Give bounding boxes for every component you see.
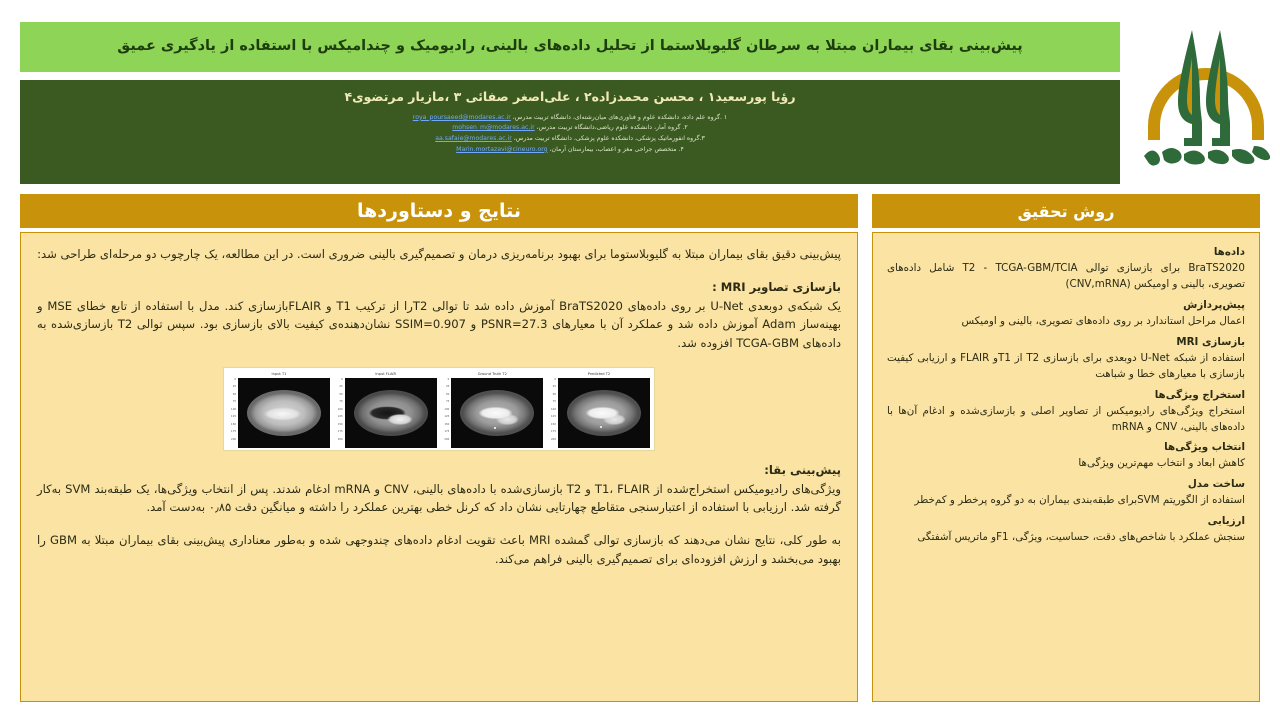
mri-image-input-flair	[345, 378, 437, 448]
mri-panel-input-flair-caption: Input FLAIR	[375, 370, 396, 378]
affiliation-1-text: ۱ .گروه علم داده، دانشکده علوم و فناوری‌…	[513, 114, 727, 121]
method-section-body-preprocessing: اعمال مراحل استاندارد بر روی داده‌های تص…	[887, 314, 1245, 330]
mri-y-axis-flair: 02550 75100125 150175200	[334, 378, 344, 446]
research-method-panel: روش تحقیق داده‌ها BraTS2020 برای بازسازی…	[872, 194, 1260, 702]
brain-slice-flair	[354, 390, 428, 436]
method-section-body-mri-reconstruction: استفاده از شبکه U-Net دوبعدی برای بازساز…	[887, 351, 1245, 383]
mri-panel-input-flair: Input FLAIR 02550 75100125 150175200	[334, 370, 438, 448]
mri-panel-input-t1: Input T1 02550 75100125 150175200	[227, 370, 331, 448]
mri-y-axis-gt: 02550 75100125 150175200	[440, 378, 450, 446]
results-panel-body: پیش‌بینی دقیق بقای بیماران مبتلا به گلیو…	[20, 232, 858, 702]
affiliation-4-email[interactable]: Marin.mortazavi@cineuro.org	[456, 146, 547, 153]
brain-slice-ground-truth	[460, 390, 534, 436]
mri-y-axis-pred: 02550 75100125 150175200	[547, 378, 557, 446]
mri-image-input-t1	[238, 378, 330, 448]
affiliation-2: ۲. گروه آمار، دانشکده علوم ریاضی،دانشگاه…	[40, 123, 1100, 134]
method-section-title-data: داده‌ها	[887, 245, 1245, 261]
poster-root: پیش‌بینی بقای بیماران مبتلا به سرطان گلی…	[0, 0, 1280, 720]
affiliation-2-text: ۲. گروه آمار، دانشکده علوم ریاضی،دانشگاه…	[537, 124, 688, 131]
research-method-heading: روش تحقیق	[872, 194, 1260, 228]
results-panel: نتایج و دستاوردها پیش‌بینی دقیق بقای بیم…	[20, 194, 858, 702]
university-logo: دانشگاه تربیت مدرس	[1140, 14, 1272, 186]
affiliation-4: ۴. متخصص جراحی مغز و اعصاب، بیمارستان آر…	[40, 145, 1100, 156]
mri-panel-ground-truth-t2-caption: Ground Truth T2	[478, 370, 507, 378]
affiliation-1-email[interactable]: roya_poursaeed@modares.ac.ir	[413, 114, 511, 121]
mri-y-axis-t1: 02550 75100125 150175200	[227, 378, 237, 446]
affiliation-1: ۱ .گروه علم داده، دانشکده علوم و فناوری‌…	[40, 113, 1100, 124]
results-survival-body: ویژگی‌های رادیومیکس استخراج‌شده از T1، F…	[37, 480, 841, 518]
affiliation-2-email[interactable]: mohsen_m@modares.ac.ir	[452, 124, 534, 131]
method-section-title-preprocessing: پیش‌پردازش	[887, 298, 1245, 314]
mri-panel-input-t1-caption: Input T1	[272, 370, 287, 378]
affiliation-3: ۳.گروه انفورماتیک پزشکی، دانشکده علوم پز…	[40, 134, 1100, 145]
authors-list: رؤیا پورسعید۱ ، محسن محمدزاده۲ ، علی‌اصغ…	[40, 88, 1100, 107]
poster-title-bar: پیش‌بینی بقای بیماران مبتلا به سرطان گلی…	[20, 22, 1120, 72]
results-mri-title: بازسازی تصاویر MRI :	[37, 278, 841, 297]
method-section-body-evaluation: سنجش عملکرد با شاخص‌های دقت، حساسیت، ویژ…	[887, 530, 1245, 546]
results-mri-body: یک شبکه‌ی دوبعدی U-Net بر روی داده‌های B…	[37, 297, 841, 353]
research-method-body: داده‌ها BraTS2020 برای بازسازی توالی T2 …	[872, 232, 1260, 702]
mri-panel-predicted-t2-caption: Predicted T2	[588, 370, 611, 378]
method-section-body-data: BraTS2020 برای بازسازی توالی T2 - TCGA-G…	[887, 261, 1245, 293]
method-section-title-mri-reconstruction: بازسازی MRI	[887, 335, 1245, 351]
university-logo-icon: دانشگاه تربیت مدرس	[1140, 14, 1272, 186]
page-title: پیش‌بینی بقای بیماران مبتلا به سرطان گلی…	[117, 37, 1022, 57]
method-section-title-feature-extraction: استخراج ویژگی‌ها	[887, 388, 1245, 404]
affiliation-3-text: ۳.گروه انفورماتیک پزشکی، دانشکده علوم پز…	[514, 135, 705, 142]
mri-image-ground-truth-t2	[451, 378, 543, 448]
mri-panel-predicted-t2: Predicted T2 02550 75100125 150175200	[547, 370, 651, 448]
results-panel-heading: نتایج و دستاوردها	[20, 194, 858, 228]
mri-reconstruction-figure: Input T1 02550 75100125 150175200 Input …	[223, 367, 655, 451]
method-section-body-feature-extraction: استخراج ویژگی‌های رادیومیکس از تصاویر اص…	[887, 404, 1245, 436]
method-section-title-feature-selection: انتخاب ویژگی‌ها	[887, 440, 1245, 456]
brain-slice-predicted	[567, 390, 641, 436]
method-section-body-feature-selection: کاهش ابعاد و انتخاب مهم‌ترین ویژگی‌ها	[887, 456, 1245, 472]
authors-bar: رؤیا پورسعید۱ ، محسن محمدزاده۲ ، علی‌اصغ…	[20, 80, 1120, 184]
affiliation-4-text: ۴. متخصص جراحی مغز و اعصاب، بیمارستان آر…	[550, 146, 684, 153]
results-conclusion: به طور کلی، نتایج نشان می‌دهند که بازساز…	[37, 531, 841, 569]
method-section-title-model-building: ساخت مدل	[887, 477, 1245, 493]
results-survival-title: پیش‌بینی بقا:	[37, 461, 841, 480]
method-section-body-model-building: استفاده از الگوریتم SVMبرای طبقه‌بندی بی…	[887, 493, 1245, 509]
mri-panel-ground-truth-t2: Ground Truth T2 02550 75100125 150175200	[440, 370, 544, 448]
mri-image-predicted-t2	[558, 378, 650, 448]
method-section-title-evaluation: ارزیابی	[887, 514, 1245, 530]
results-intro: پیش‌بینی دقیق بقای بیماران مبتلا به گلیو…	[37, 245, 841, 264]
affiliation-3-email[interactable]: aa.safaie@modares.ac.ir	[435, 135, 512, 142]
brain-slice-t1	[247, 390, 321, 436]
